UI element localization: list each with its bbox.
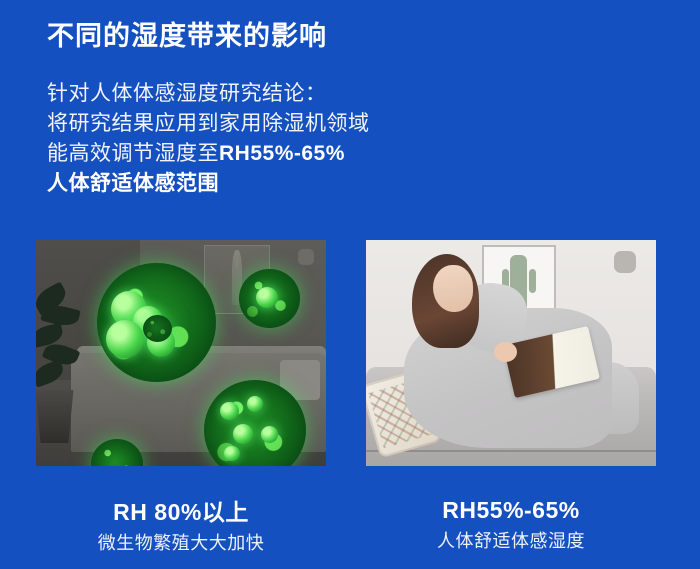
germ-blob: [247, 396, 263, 412]
woman-hand: [494, 342, 517, 362]
humidity-range-highlight: RH55%-65%: [219, 142, 345, 165]
germ-blob: [261, 426, 278, 443]
dim-living-room-photo: [36, 240, 326, 466]
plant-pot: [36, 390, 74, 444]
description-line-2: 将研究结果应用到家用除湿机领域: [47, 109, 370, 139]
caption-comfort-humidity-title: RH55%-65%: [366, 495, 656, 525]
caption-high-humidity: RH 80%以上 微生物繁殖大大加快: [36, 497, 326, 557]
germ-blob: [256, 287, 278, 308]
germ-blob: [106, 320, 144, 358]
germ-blob: [233, 424, 253, 444]
germ-cluster-bottom: [204, 380, 306, 466]
germ-blob: [220, 402, 238, 420]
woman-face: [433, 265, 474, 312]
image-panel-comfort-humidity: [366, 240, 656, 466]
description-line-3: 能高效调节湿度至RH55%-65%: [47, 139, 370, 169]
plant-leaf: [36, 360, 66, 388]
bright-living-room-photo: [366, 240, 656, 466]
description-line-3-text: 能高效调节湿度至: [47, 142, 219, 165]
caption-comfort-humidity: RH55%-65% 人体舒适体感湿度: [366, 495, 656, 555]
description-line-4: 人体舒适体感范围: [47, 169, 370, 199]
germ-cluster-top: [239, 269, 300, 328]
wall-thermostat-icon: [298, 249, 314, 265]
caption-comfort-humidity-subtitle: 人体舒适体感湿度: [366, 527, 656, 555]
page-title: 不同的湿度带来的影响: [47, 18, 327, 54]
humidity-infographic-poster: 不同的湿度带来的影响 针对人体体感湿度研究结论： 将研究结果应用到家用除湿机领域…: [0, 0, 700, 569]
caption-high-humidity-title: RH 80%以上: [36, 497, 326, 527]
sofa-seam: [366, 450, 656, 452]
image-panel-high-humidity: [36, 240, 326, 466]
germ-cluster-small: [143, 315, 172, 342]
description-line-1: 针对人体体感湿度研究结论：: [47, 79, 370, 109]
caption-high-humidity-subtitle: 微生物繁殖大大加快: [36, 529, 326, 557]
potted-plant: [36, 285, 94, 443]
germ-blob: [224, 446, 239, 461]
description-block: 针对人体体感湿度研究结论： 将研究结果应用到家用除湿机领域 能高效调节湿度至RH…: [47, 79, 370, 199]
wall-speaker-icon: [614, 251, 636, 273]
